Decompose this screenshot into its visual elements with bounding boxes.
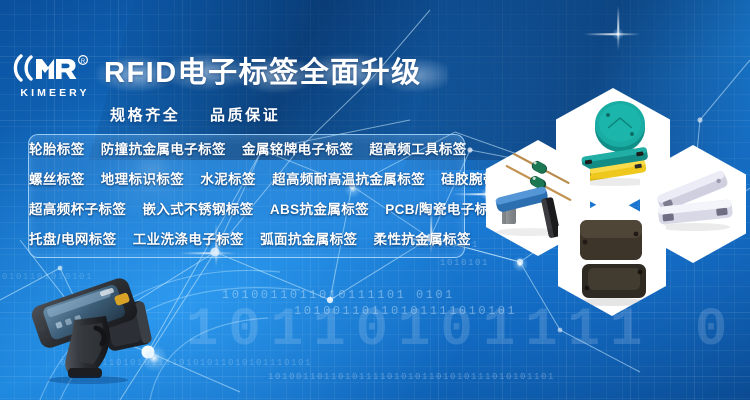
tag-list-row: 托盘/电网标签 工业洗涤电子标签 弧面抗金属标签 柔性抗金属标签 (29, 225, 464, 255)
binary-mid-1: 1010011011010111101 0101 (222, 288, 455, 302)
tag-item[interactable]: 轮胎标签 (29, 135, 85, 165)
tag-item[interactable]: ABS抗金属标签 (270, 195, 369, 225)
handheld-reader-illustration (18, 272, 168, 384)
binary-right-2: 1010101 (440, 258, 489, 268)
tag-item[interactable]: PCB/陶瓷电子标签 (385, 195, 502, 225)
tag-list-row: 轮胎标签 防撞抗金属电子标签 金属铭牌电子标签 超高频工具标签 (29, 135, 464, 165)
binary-large: 10110101111 0 (186, 300, 737, 361)
banner-canvas: 10110101111 0 1010011011010111101 0101 1… (0, 0, 750, 400)
subtitle-left: 规格齐全 (110, 107, 180, 124)
tag-item[interactable]: 弧面抗金属标签 (260, 225, 357, 255)
glow-cross (612, 28, 624, 40)
headline-block: RFID电子标签全面升级 (104, 52, 422, 94)
kmr-monogram-icon: R (12, 52, 98, 84)
tag-item[interactable]: 水泥标签 (200, 165, 256, 195)
handheld-rfid-reader[interactable] (18, 272, 168, 384)
subtitle: 规格齐全 品质保证 (110, 104, 280, 125)
tag-item[interactable]: 螺丝标签 (29, 165, 85, 195)
tag-item[interactable]: 防撞抗金属电子标签 (101, 135, 226, 165)
tag-item[interactable]: 嵌入式不锈钢标签 (142, 195, 253, 225)
page-title: RFID电子标签全面升级 (104, 52, 422, 94)
tag-item[interactable]: 地理标识标签 (101, 165, 184, 195)
brand-logo[interactable]: R KIMEERY (12, 52, 98, 104)
tag-item[interactable]: 超高频工具标签 (369, 135, 466, 165)
tag-item[interactable]: 工业洗涤电子标签 (133, 225, 244, 255)
svg-text:R: R (81, 59, 86, 65)
tag-list-row: 螺丝标签 地理标识标签 水泥标签 超高频耐高温抗金属标签 硅胶腕带 (29, 165, 464, 195)
tag-item[interactable]: 柔性抗金属标签 (374, 225, 471, 255)
binary-small-2: 1010011011010111101010110101011101010110… (268, 372, 555, 382)
tag-item[interactable]: 超高频耐高温抗金属标签 (272, 165, 425, 195)
tag-list-row: 超高频杯子标签 嵌入式不锈钢标签 ABS抗金属标签 PCB/陶瓷电子标签 (29, 195, 464, 225)
tag-item[interactable]: 托盘/电网标签 (29, 225, 117, 255)
tag-item[interactable]: 金属铭牌电子标签 (242, 135, 353, 165)
brand-name: KIMEERY (12, 87, 98, 99)
tag-list-panel: 轮胎标签 防撞抗金属电子标签 金属铭牌电子标签 超高频工具标签 螺丝标签 地理标… (28, 134, 465, 258)
binary-mid-2: 10100110110101111010101 (294, 304, 517, 318)
glow-node (512, 256, 528, 272)
subtitle-right: 品质保证 (210, 107, 280, 124)
tag-item[interactable]: 超高频杯子标签 (29, 195, 126, 225)
